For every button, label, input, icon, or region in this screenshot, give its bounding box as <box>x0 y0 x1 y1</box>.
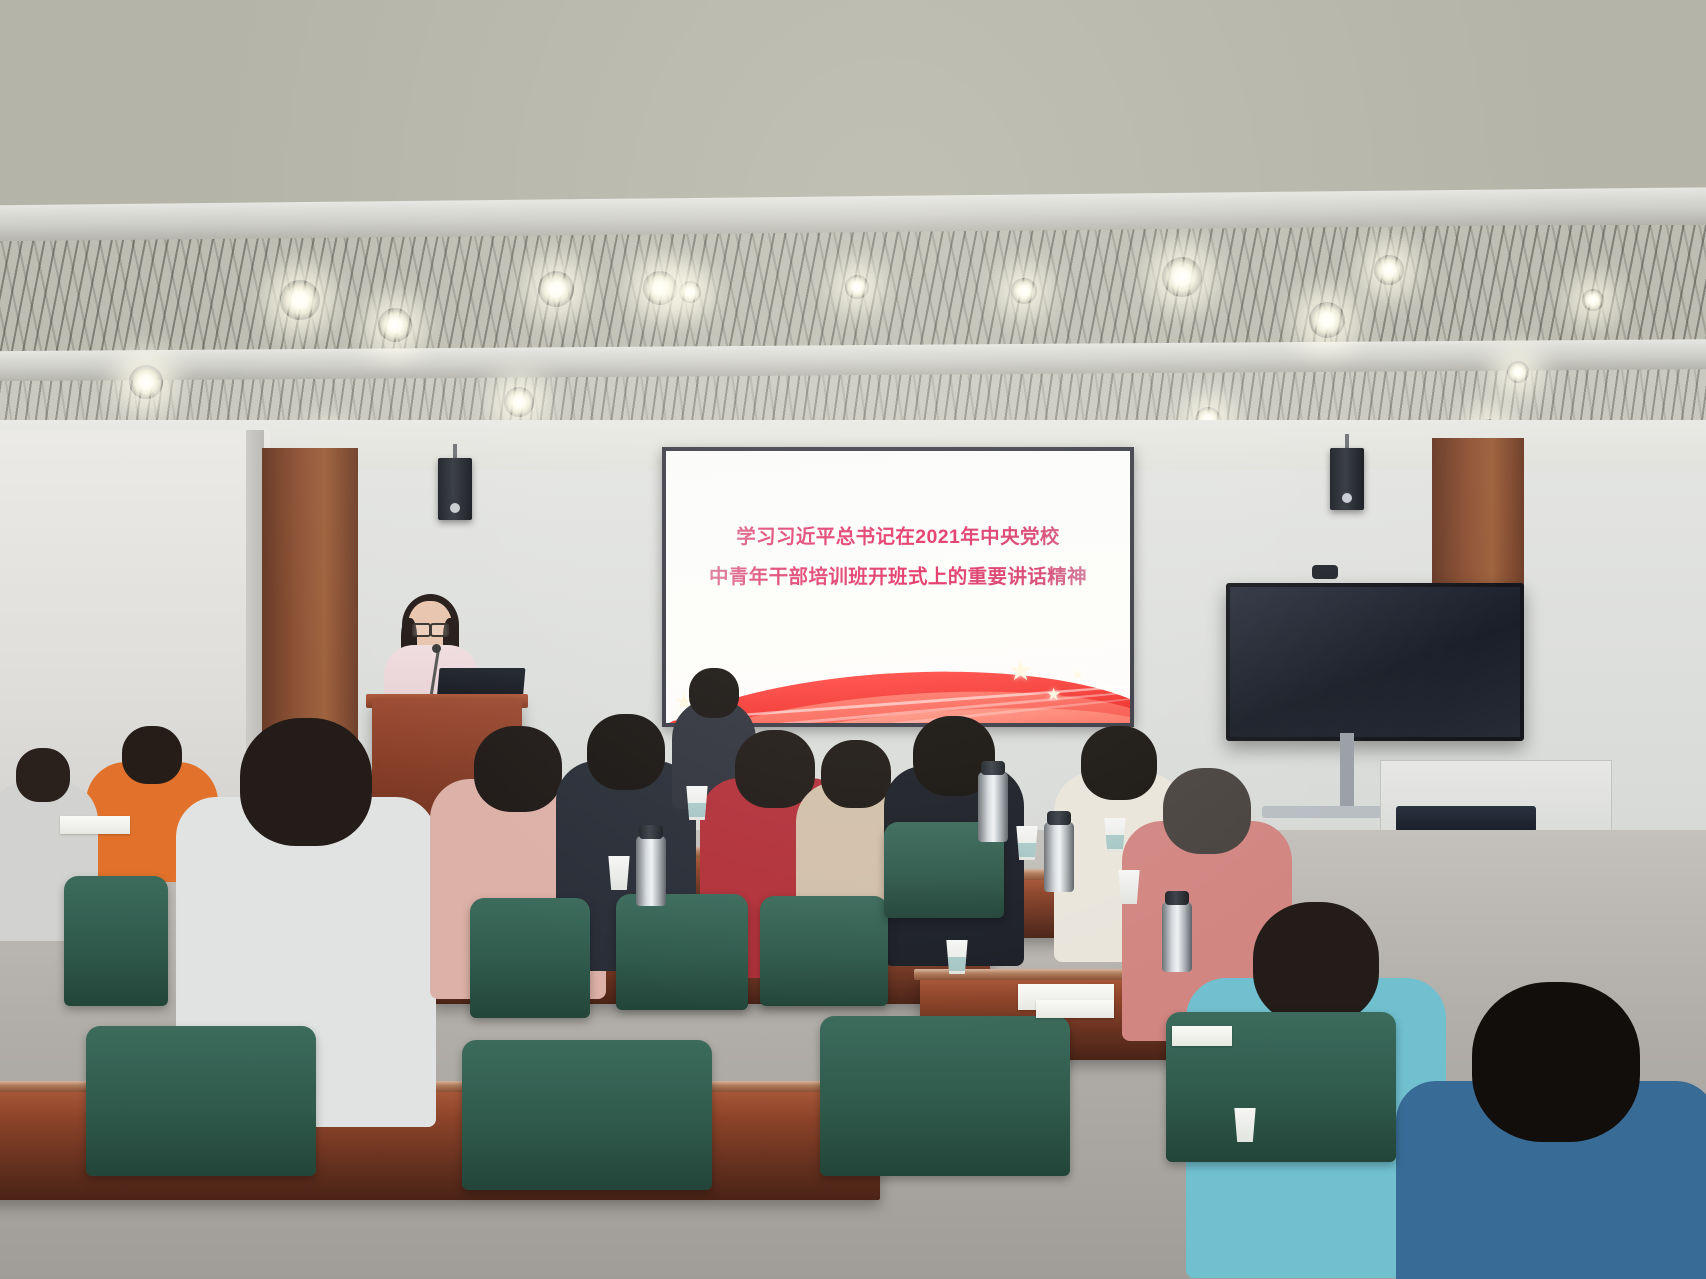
monitor-stand <box>1340 733 1354 811</box>
wall-monitor <box>1226 583 1524 741</box>
ceiling-downlight <box>1374 255 1404 285</box>
thermos-b <box>1044 822 1074 892</box>
attendee-white-polo <box>176 718 436 1048</box>
ceiling-downlight <box>643 271 677 305</box>
ceiling-downlight <box>1011 278 1037 304</box>
right-wall-speaker <box>1330 448 1364 510</box>
star-icon: ★ <box>1008 657 1033 685</box>
paper-b <box>1036 1000 1114 1018</box>
ceiling-downlight <box>1162 257 1202 297</box>
attendee-dark-mid-head <box>587 714 665 790</box>
thermos-a <box>978 772 1008 842</box>
attendee-plaid-front <box>1396 982 1706 1279</box>
ceiling-downlight <box>1582 289 1604 311</box>
paper-d <box>1172 1026 1232 1046</box>
conference-room-photo: 学习习近平总书记在2021年中央党校 中青年干部培训班开班式上的重要讲话精神 ★… <box>0 0 1706 1279</box>
chair-c <box>616 894 748 1010</box>
attendee-floral-head <box>821 740 891 808</box>
av-equipment <box>1396 806 1536 832</box>
chair-f <box>86 1026 316 1176</box>
ceiling-downlight <box>538 271 574 307</box>
presenter-glasses-left <box>412 623 431 637</box>
slide-title: 学习习近平总书记在2021年中央党校 中青年干部培训班开班式上的重要讲话精神 <box>666 517 1130 597</box>
ceiling-downlight <box>378 308 412 342</box>
chair-h <box>820 1016 1070 1176</box>
ceiling-downlight <box>129 365 163 399</box>
thermos-d <box>1162 902 1192 972</box>
ceiling-downlight <box>1507 361 1529 383</box>
attendee-back-dark-head <box>689 668 739 718</box>
ceiling-downlight <box>679 281 701 303</box>
ceiling-downlight <box>845 275 869 299</box>
attendee-grey-far-left-head <box>16 748 70 802</box>
chair-g <box>462 1040 712 1190</box>
ceiling-downlight <box>280 280 320 320</box>
left-wall-speaker <box>438 458 472 520</box>
star-icon: ★ <box>1072 668 1084 681</box>
attendee-cyan-shirt-head <box>1253 902 1379 1024</box>
thermos-c <box>636 836 666 906</box>
chair-a <box>64 876 168 1006</box>
presenter-glasses-right <box>430 623 449 637</box>
chair-b <box>470 898 590 1018</box>
attendee-pink-blazer-head <box>474 726 562 812</box>
chair-d <box>760 896 888 1006</box>
microphone-icon <box>432 644 441 653</box>
slide-title-line-1: 学习习近平总书记在2021年中央党校 <box>666 517 1130 557</box>
ceiling-downlight <box>1309 302 1345 338</box>
paper-c <box>60 816 130 834</box>
star-icon: ★ <box>1046 686 1061 703</box>
ceiling-downlight <box>504 387 534 417</box>
attendee-plaid-front-head <box>1472 982 1640 1142</box>
camera-icon <box>1312 565 1338 579</box>
attendee-white-polo-head <box>240 718 372 846</box>
attendee-orange-left-head <box>122 726 182 784</box>
lattice-ceiling <box>0 0 1706 470</box>
slide-title-line-2: 中青年干部培训班开班式上的重要讲话精神 <box>666 557 1130 597</box>
attendee-pink-shirt-head <box>1163 768 1251 854</box>
